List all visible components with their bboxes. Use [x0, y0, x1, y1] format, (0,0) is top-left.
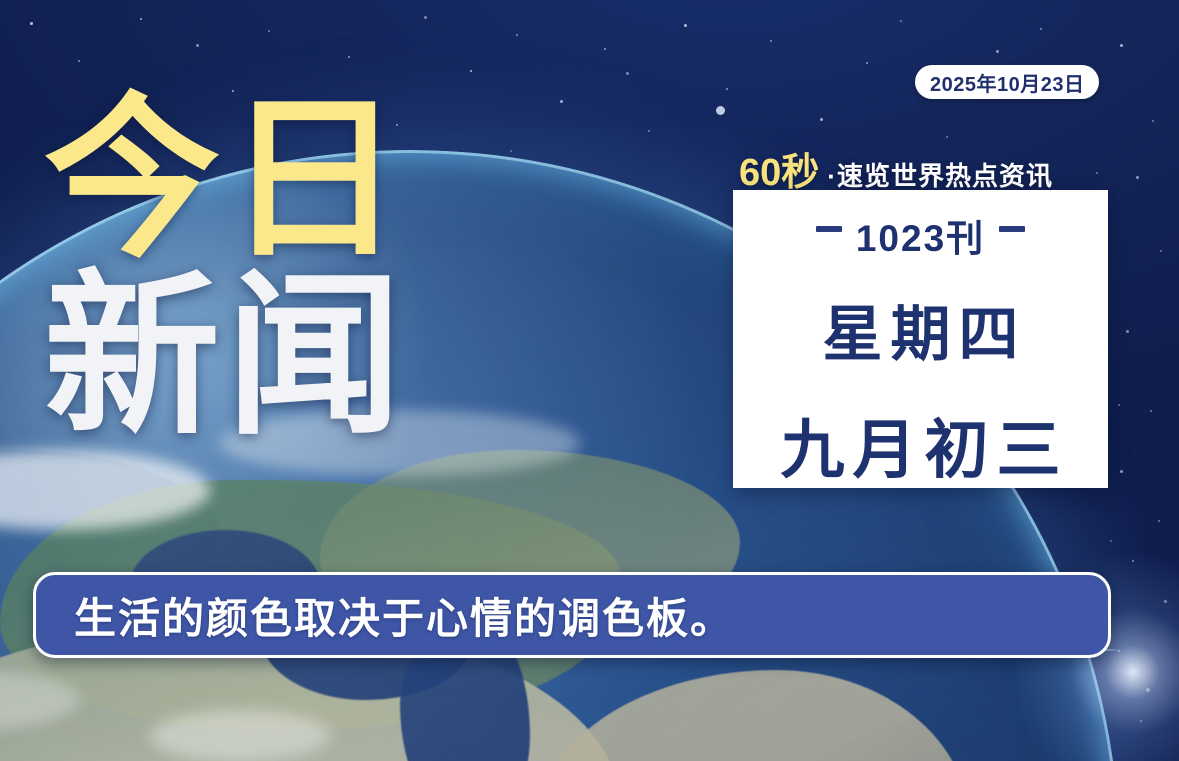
- date-info-card: 1023刊 星期四 九月初三: [733, 190, 1108, 488]
- tagline-rest: ·速览世界热点资讯: [827, 156, 1053, 193]
- tagline: 60秒 ·速览世界热点资讯: [739, 141, 1053, 196]
- title-line-jinri: 今日: [44, 96, 408, 265]
- dash-right-icon: [999, 226, 1025, 232]
- news-poster: 今日 新闻 2025年10月23日 60秒 ·速览世界热点资讯 1023刊 星期…: [0, 0, 1179, 761]
- issue-number-row: 1023刊: [816, 208, 1025, 262]
- tagline-highlight: 60秒: [739, 141, 819, 196]
- quote-text: 生活的颜色取决于心情的调色板。: [74, 585, 734, 646]
- issue-number-label: 1023刊: [856, 208, 985, 262]
- dash-left-icon: [816, 226, 842, 232]
- weekday-label: 星期四: [815, 286, 1027, 373]
- quote-bar: 生活的颜色取决于心情的调色板。: [33, 572, 1111, 658]
- title-line-xinwen: 新闻: [44, 273, 408, 442]
- lunar-date-label: 九月初三: [773, 399, 1069, 491]
- date-badge: 2025年10月23日: [915, 65, 1099, 99]
- poster-title: 今日 新闻: [44, 96, 408, 442]
